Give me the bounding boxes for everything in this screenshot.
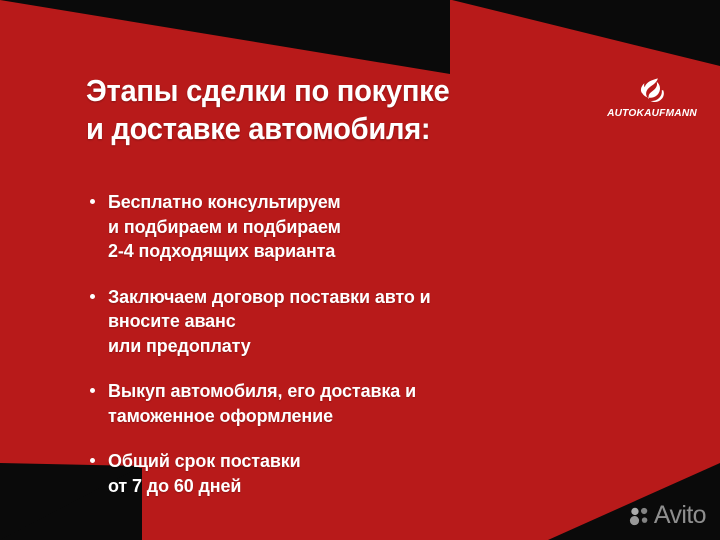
bullet-dot-icon: [90, 458, 95, 463]
list-item: Выкуп автомобиля, его доставка и таможен…: [86, 379, 646, 428]
bullet-line: Выкуп автомобиля, его доставка и: [108, 379, 630, 404]
bullet-line: Заключаем договор поставки авто и: [108, 285, 630, 310]
avito-wordmark: Avito: [654, 503, 706, 528]
title-line-2: и доставке автомобиля:: [86, 110, 612, 148]
bullet-dot-icon: [90, 199, 95, 204]
bullet-line: 2-4 подходящих варианта: [108, 239, 630, 264]
steps-list: Бесплатно консультируем и подбираем и по…: [86, 190, 646, 498]
bullet-line: и подбираем и подбираем: [108, 215, 630, 240]
title-line-1: Этапы сделки по покупке: [86, 72, 612, 110]
avito-watermark: Avito: [629, 503, 706, 528]
bullet-dot-icon: [90, 388, 95, 393]
flame-swoosh-icon: [637, 76, 667, 106]
page-title: Этапы сделки по покупке и доставке автом…: [86, 72, 646, 148]
bullet-line: или предоплату: [108, 334, 630, 359]
list-item: Заключаем договор поставки авто и вносит…: [86, 285, 646, 359]
bullet-line: вносите аванс: [108, 309, 630, 334]
list-item: Бесплатно консультируем и подбираем и по…: [86, 190, 646, 264]
list-item: Общий срок поставки от 7 до 60 дней: [86, 449, 646, 498]
bullet-line: Общий срок поставки: [108, 449, 630, 474]
poster-canvas: Этапы сделки по покупке и доставке автом…: [0, 0, 720, 540]
brand-name-label: AUTOKAUFMANN: [600, 107, 705, 119]
bullet-line: от 7 до 60 дней: [108, 474, 630, 499]
bullet-dot-icon: [90, 294, 95, 299]
avito-dots-icon: [629, 505, 651, 527]
brand-logo: AUTOKAUFMANN: [598, 76, 706, 119]
bullet-line: таможенное оформление: [108, 404, 630, 429]
bullet-line: Бесплатно консультируем: [108, 190, 630, 215]
